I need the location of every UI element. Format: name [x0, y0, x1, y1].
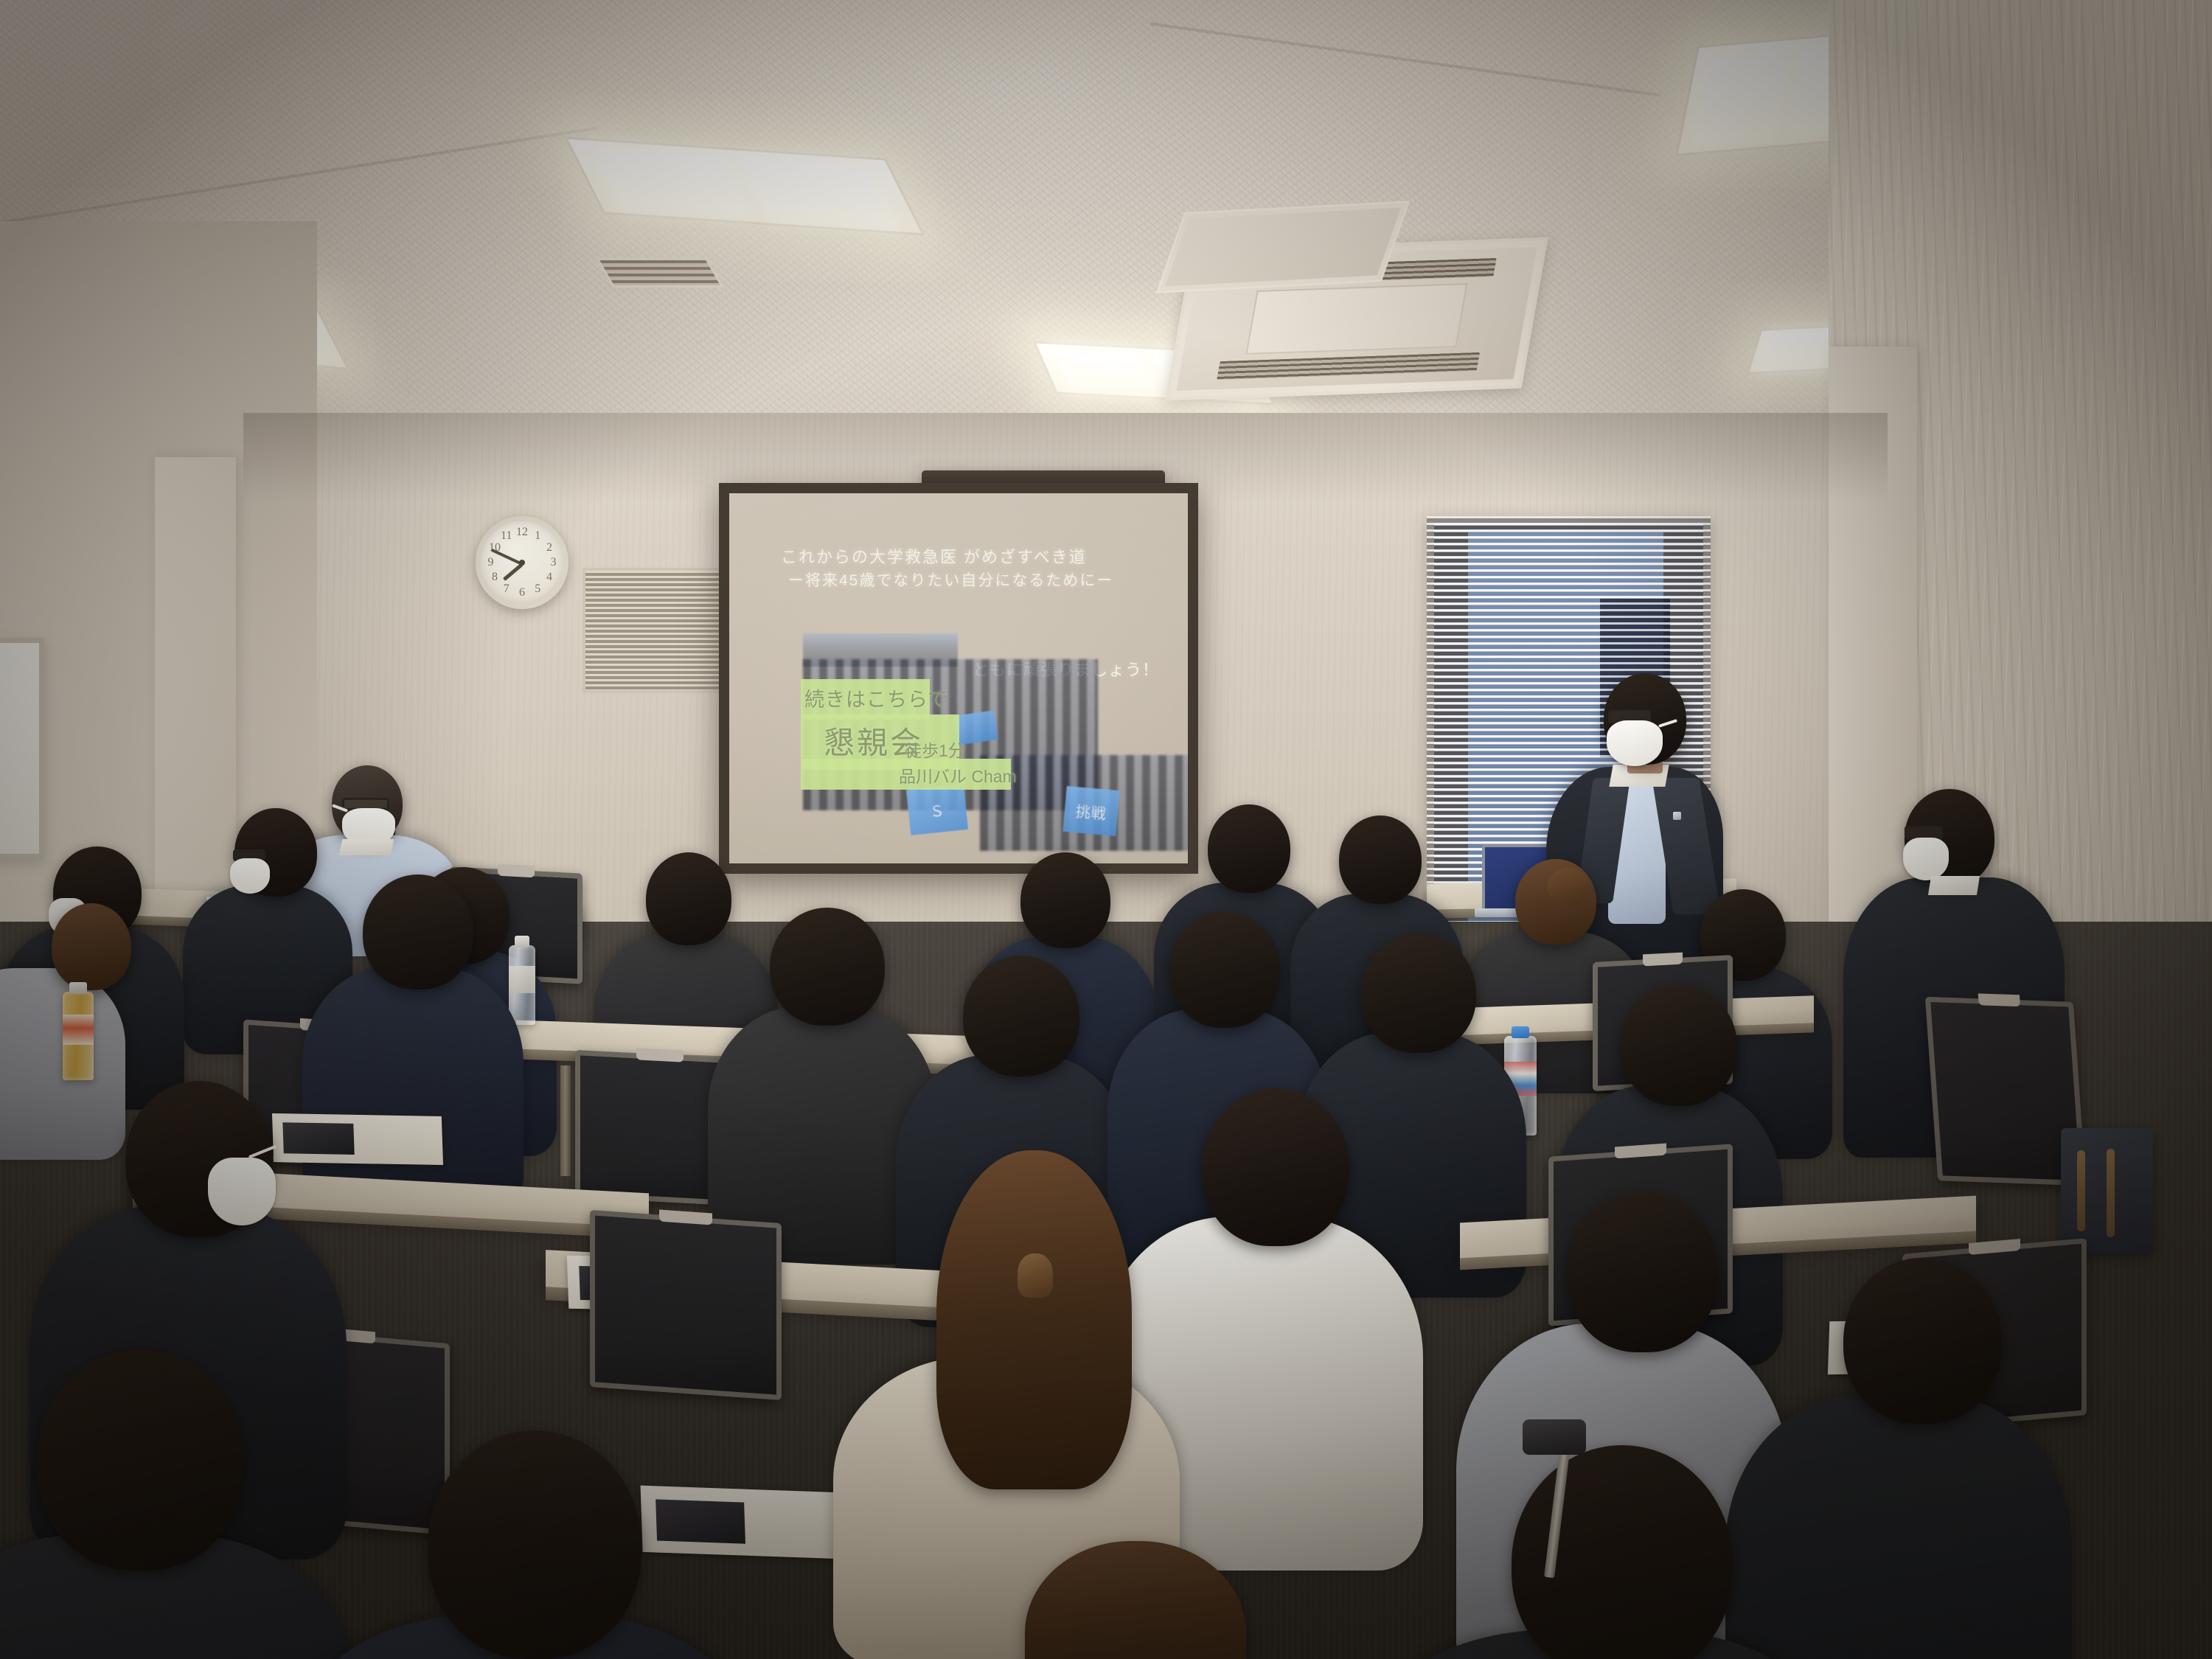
chair-back [590, 1210, 782, 1400]
audience-head [1208, 804, 1290, 893]
clock-center-pin [519, 560, 525, 566]
light-tube [740, 158, 896, 225]
audience-face-mask [208, 1158, 276, 1225]
ac-center-panel [1246, 283, 1468, 355]
audience-head [1169, 911, 1280, 1028]
bottle-label [63, 1015, 94, 1045]
tea-bottle [63, 992, 94, 1080]
audience-head [1567, 1192, 1718, 1352]
bottle-cap [515, 936, 529, 947]
clock-hour-hand [503, 563, 524, 581]
chair-back-notch [1978, 993, 2020, 1006]
handout-paper [272, 1113, 443, 1165]
clock-numeral: 1 [535, 529, 540, 543]
ac-grille [1217, 352, 1480, 380]
camera-head [1523, 1419, 1586, 1455]
bag-handle [2107, 1149, 2115, 1237]
slide-green-line3: 徒歩1分 [905, 737, 965, 762]
audience-head [963, 956, 1079, 1077]
chair-back-notch [498, 864, 535, 878]
audience-head [1202, 1088, 1349, 1246]
slide-flag-left: Ｓ [906, 784, 968, 835]
handout-paper [641, 1486, 864, 1560]
seminar-room-photo: 12 1 2 3 4 5 6 7 8 9 10 11 これからの大学救急医 がめ… [0, 0, 2212, 1659]
clock-numeral: 7 [504, 582, 509, 596]
projector-screen-frame: これからの大学救急医 がめざすべき道 ー将来45歳でなりたい自分になるためにー … [719, 483, 1198, 874]
audience-head [363, 874, 473, 990]
hair-bun [1547, 868, 1590, 906]
clock-numeral: 5 [535, 582, 540, 596]
slide-flag-right: 挑戦 [1062, 786, 1119, 836]
audience-head [1339, 815, 1422, 904]
clock-numeral: 8 [492, 571, 498, 584]
audience-torso [302, 966, 524, 1209]
clock-numeral: 11 [501, 529, 512, 543]
clock-numeral: 6 [519, 586, 525, 599]
hair-clip [1018, 1253, 1053, 1298]
projector-screen-surface: これからの大学救急医 がめざすべき道 ー将来45歳でなりたい自分になるためにー … [729, 493, 1188, 863]
speaker-face-mask [1607, 720, 1663, 766]
bottle-label [509, 966, 535, 993]
clock-numeral: 4 [546, 571, 552, 584]
audience-face-mask [230, 858, 270, 894]
slide-title: これからの大学救急医 がめざすべき道 ー将来45歳でなりたい自分になるためにー [781, 545, 1113, 593]
shoulder-bag [2061, 1128, 2153, 1253]
audience-head [1621, 985, 1737, 1106]
chair-back-notch [1643, 953, 1682, 967]
clock-minute-hand [490, 549, 522, 566]
audience-head [1843, 1258, 2002, 1424]
slide-title-line2: ー将来45歳でなりたい自分になるためにー [788, 569, 1113, 593]
audience-head [1361, 933, 1476, 1053]
ceiling-vent [1156, 201, 1411, 293]
slide-green-line1: 続きはこちらで [804, 684, 948, 712]
clock-numeral: 9 [487, 556, 493, 569]
speaker-lapel-badge [1673, 812, 1681, 820]
bottle-cap [1512, 1026, 1530, 1038]
bottle-cap [69, 982, 87, 994]
audience-head [646, 852, 731, 945]
handout-thumbnail [282, 1122, 354, 1155]
foreground-head [37, 1349, 243, 1571]
clock-numeral: 12 [516, 526, 528, 539]
foreground-head [428, 1430, 641, 1659]
clock-numeral: 3 [551, 556, 557, 569]
whiteboard [0, 638, 44, 859]
chair [590, 1210, 782, 1400]
slide-green-line4: 品川バル Cham [899, 762, 1017, 787]
light-tube [594, 148, 750, 215]
chair-back-notch [636, 1048, 684, 1062]
small-window-blind [582, 568, 737, 693]
audience-head [770, 908, 885, 1026]
water-bottle [509, 945, 535, 1025]
table-leg [560, 1065, 571, 1176]
light-tube [1694, 50, 1792, 142]
ceiling-vent-slot [596, 258, 723, 288]
moderator-collar [339, 839, 394, 855]
right-man-collar [1928, 876, 1980, 895]
clock-numeral: 2 [546, 541, 552, 554]
bag-handle [2077, 1150, 2085, 1231]
light-tube [1053, 349, 1155, 392]
audience-head [1020, 852, 1110, 948]
slide-title-line1: これからの大学救急医 がめざすべき道 [781, 545, 1113, 569]
right-man-face-mask [1903, 838, 1949, 880]
handout-thumbnail [655, 1499, 745, 1543]
wall-clock: 12 1 2 3 4 5 6 7 8 9 10 11 [476, 516, 568, 609]
wall-pillar [155, 457, 236, 929]
audience-head [52, 903, 131, 990]
long-hair [936, 1150, 1132, 1489]
audience-torso [1725, 1394, 2072, 1659]
